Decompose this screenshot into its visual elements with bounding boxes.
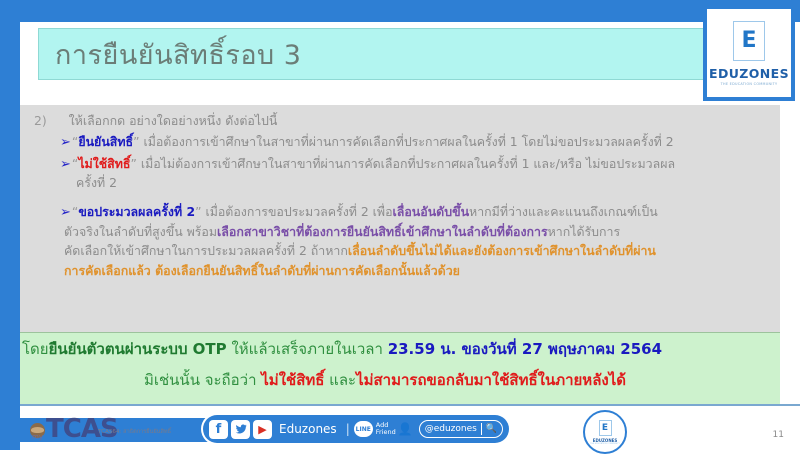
mytcas-my-label: my [32, 433, 43, 441]
otp-line2-a: มิเช่นนั้น จะถือว่า [144, 371, 261, 389]
bullet-3-line4: การคัดเลือกแล้ว ต้องเลือกยืนยันสิทธิ์ในล… [34, 265, 766, 277]
bullet-3-line1-a: เมื่อต้องการขอประมวลครั้งที่ 2 เพื่อ [202, 204, 393, 219]
arrow-bullet-icon: ➢ [60, 157, 71, 172]
line-handle-pill[interactable]: @eduzones 🔍 [419, 420, 503, 438]
bullet-1-rest: เมื่อต้องการเข้าศึกษาในสาขาที่ผ่านการคัด… [140, 134, 674, 149]
keyword-confirm-right: ยืนยันสิทธิ์ [78, 134, 133, 149]
otp-line2-b: และ [324, 371, 356, 389]
handle-divider [481, 423, 482, 435]
slide-screen: การยืนยันสิทธิ์รอบ 3 E EDUZONES THE EDUC… [0, 0, 800, 450]
add-friend-line2: Friend [376, 429, 396, 436]
top-blue-band [0, 0, 800, 22]
facebook-icon[interactable]: f [209, 420, 228, 439]
otp-highlight-block: โดยยืนยันตัวตนผ่านระบบ OTP ให้แล้วเสร็จภ… [20, 332, 780, 404]
search-icon[interactable]: 🔍 [486, 424, 497, 434]
youtube-icon[interactable]: ▶ [253, 420, 272, 439]
arrow-bullet-icon: ➢ [60, 205, 71, 220]
left-blue-rail [0, 0, 20, 450]
highlight-must-confirm: ต้องเลือกยืนยันสิทธิ์ในลำดับที่ผ่านการคั… [155, 263, 460, 278]
item-number: 2) [34, 113, 47, 128]
bullet-2-rest: เมื่อไม่ต้องการเข้าศึกษาในสาขาที่ผ่านการ… [137, 156, 675, 171]
eduzones-logo: E EDUZONES THE EDUCATION COMMUNITY [703, 5, 795, 101]
page-title: การยืนยันสิทธิ์รอบ 3 [39, 33, 301, 76]
slide-body: 2) ให้เลือกกด อย่างใดอย่างหนึ่ง ดังต่อไป… [20, 105, 780, 332]
otp-line-1: โดยยืนยันตัวตนผ่านระบบ OTP ให้แล้วเสร็จภ… [20, 342, 780, 357]
bullet-3-line2-a: ตัวจริงในลำดับที่สูงขึ้น พร้อม [64, 224, 217, 239]
body-item-2: 2) ให้เลือกกด อย่างใดอย่างหนึ่ง ดังต่อไป… [34, 115, 766, 127]
bullet-maichai: ➢“ไม่ใช้สิทธิ์” เมื่อไม่ต้องการเข้าศึกษา… [34, 158, 766, 171]
bullet-yuenyan: ➢“ยืนยันสิทธิ์” เมื่อต้องการเข้าศึกษาในส… [34, 136, 766, 149]
highlight-after-selection: การคัดเลือกแล้ว [64, 263, 155, 278]
keyword-decline-right: ไม่ใช้สิทธิ์ [78, 156, 130, 171]
eduzones-tagline: THE EDUCATION COMMUNITY [721, 82, 778, 86]
eduzones-wordmark: EDUZONES [709, 66, 789, 81]
page-number: 11 [773, 430, 784, 440]
line-app-icon[interactable]: LINE [354, 421, 373, 437]
eduzones-round-logo: E EDUZONES THE EDUCATION COMMUNITY [583, 410, 627, 454]
twitter-icon[interactable] [231, 420, 250, 439]
slide-footer: TCAS my TCAS64: สาธิตการยืนยันสิทธิ์ f ▶… [20, 404, 800, 452]
keyword-reprocess: ขอประมวลผลครั้งที่ 2 [78, 204, 195, 219]
twitter-bird-glyph [235, 423, 247, 435]
otp-decline-word: ไม่ใช้สิทธิ์ [261, 371, 324, 389]
otp-line1-a: โดย [22, 340, 49, 358]
item-text: ให้เลือกกด อย่างใดอย่างหนึ่ง ดังต่อไปนี้ [69, 113, 278, 128]
social-bar[interactable]: f ▶ Eduzones | LINE Add Friend 👤 @eduzon… [203, 415, 509, 443]
bullet-reprocess: ➢“ขอประมวลผลครั้งที่ 2” เมื่อต้องการขอปร… [34, 206, 766, 219]
eduzones-logo-letter: E [733, 21, 765, 61]
arrow-bullet-icon: ➢ [60, 135, 71, 150]
round-logo-tagline: THE EDUCATION COMMUNITY [590, 443, 619, 445]
social-separator: | [346, 422, 350, 436]
round-logo-letter: E [599, 420, 612, 436]
bullet-3-line2-b: หากได้รับการ [548, 224, 621, 239]
highlight-move-up: เลื่อนอันดับขึ้น [393, 204, 470, 219]
social-page-name: Eduzones [279, 422, 337, 436]
line-add-friend-label: Add Friend [376, 422, 396, 436]
bullet-2-continuation: ครั้งที่ 2 [34, 177, 766, 189]
highlight-choose-major: เลือกสาขาวิชาที่ต้องการยืนยันสิทธิ์เข้าศ… [217, 224, 548, 239]
bullet-3-line1-b: หากมีที่ว่างและคะแนนถึงเกณฑ์เป็น [469, 204, 658, 219]
otp-system-label: ยืนยันตัวตนผ่านระบบ OTP [49, 340, 227, 358]
slide-title-box: การยืนยันสิทธิ์รอบ 3 [38, 28, 738, 80]
otp-no-return-word: ไม่สามารถขอกลับมาใช้สิทธิ์ในภายหลังได้ [356, 371, 626, 389]
line-handle: @eduzones [425, 424, 477, 434]
footer-caption: TCAS64: สาธิตการยืนยันสิทธิ์ [98, 428, 171, 436]
highlight-cannot-move-up: เลื่อนลำดับขึ้นไม่ได้และยังต้องการเข้าศึ… [348, 243, 656, 258]
otp-deadline: 23.59 น. ของวันที่ 27 พฤษภาคม 2564 [388, 340, 662, 358]
bullet-3-line3-a: คัดเลือกให้เข้าศึกษาในการประมวลผลครั้งที… [64, 243, 348, 258]
otp-line-2: มิเช่นนั้น จะถือว่า ไม่ใช้สิทธิ์ และไม่ส… [20, 373, 780, 388]
add-person-icon[interactable]: 👤 [398, 422, 413, 436]
bullet-3-line3: คัดเลือกให้เข้าศึกษาในการประมวลผลครั้งที… [34, 245, 766, 257]
otp-line1-c: ให้แล้วเสร็จภายในเวลา [227, 340, 388, 358]
bullet-3-line2: ตัวจริงในลำดับที่สูงขึ้น พร้อมเลือกสาขาว… [34, 226, 766, 238]
